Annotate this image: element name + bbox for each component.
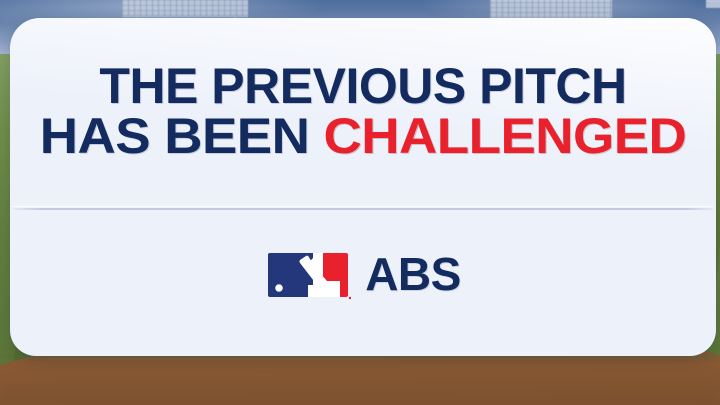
mlb-logo	[265, 250, 351, 300]
divider-highlight	[13, 206, 713, 207]
divider	[13, 208, 713, 210]
light-tower-far-right	[706, 0, 720, 10]
headline-line-1: THE PREVIOUS PITCH	[10, 62, 716, 110]
challenge-announcement-card: THE PREVIOUS PITCH HAS BEEN CHALLENGED	[10, 18, 716, 356]
broadcast-overlay-screen: THE PREVIOUS PITCH HAS BEEN CHALLENGED	[0, 0, 720, 405]
headline: THE PREVIOUS PITCH HAS BEEN CHALLENGED	[10, 62, 716, 160]
headline-line-2: HAS BEEN CHALLENGED	[10, 112, 716, 160]
brand-lockup: ABS	[10, 250, 716, 300]
headline-line-2-prefix: HAS BEEN	[40, 108, 324, 164]
headline-line-2-highlight: CHALLENGED	[324, 108, 687, 164]
abs-system-label: ABS	[365, 251, 461, 297]
